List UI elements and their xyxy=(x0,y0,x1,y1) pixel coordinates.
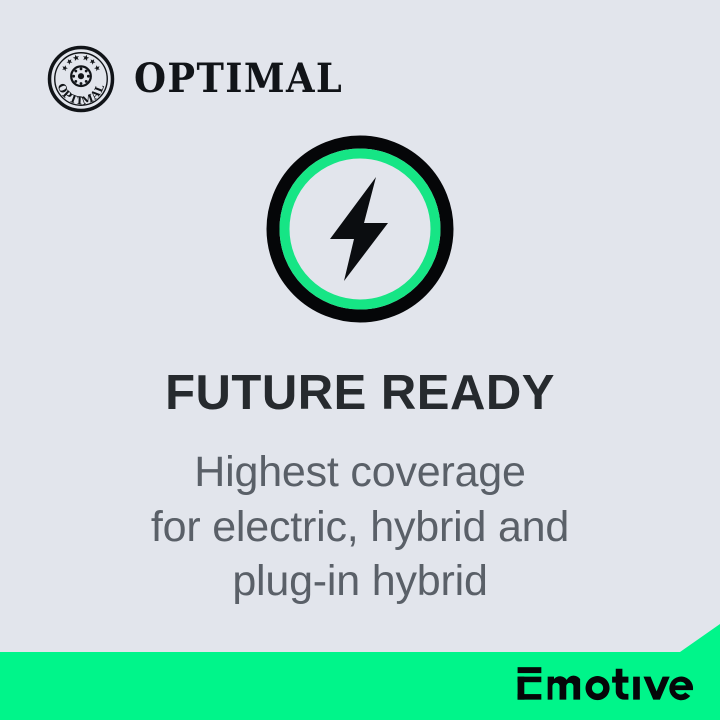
brand-wordmark: OPTIMAL xyxy=(134,59,343,99)
page-title: FUTURE READY xyxy=(0,368,720,419)
optimal-circular-badge-icon: OPTIMAL xyxy=(46,44,116,114)
bolt-shape xyxy=(330,177,388,281)
brand-header: OPTIMAL OPTIMAL xyxy=(46,44,361,114)
lightning-bolt-in-ring-icon xyxy=(264,133,456,325)
copy-block: FUTURE READY Highest coverage for electr… xyxy=(0,368,720,608)
subtitle: Highest coverage for electric, hybrid an… xyxy=(0,445,720,608)
subtitle-line-3: plug-in hybrid xyxy=(0,554,720,608)
promo-poster: OPTIMAL OPTIMAL FUTURE READY Highest cov… xyxy=(0,0,720,720)
subtitle-line-1: Highest coverage xyxy=(0,445,720,499)
emotive-wordmark-icon xyxy=(516,662,698,702)
footer-band xyxy=(0,624,720,720)
subtitle-line-2: for electric, hybrid and xyxy=(0,500,720,554)
